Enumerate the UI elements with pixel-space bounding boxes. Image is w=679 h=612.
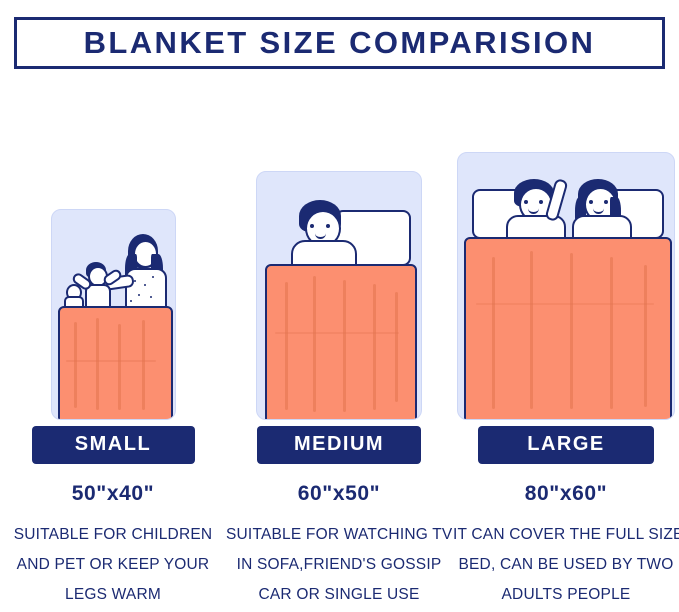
description-small-line-2: AND PET OR KEEP YOUR [0,550,226,580]
column-small: SMALL 50"x40" SUITABLE FOR CHILDREN AND … [0,120,226,610]
label-medium: MEDIUM [257,426,421,464]
description-large: IT CAN COVER THE FULL SIZE BED, CAN BE U… [453,520,679,610]
dimensions-medium: 60"x50" [226,482,452,506]
illustration-small [51,209,176,420]
label-small: SMALL [32,426,195,464]
dimensions-large: 80"x60" [453,482,679,506]
description-medium-line-1: SUITABLE FOR WATCHING TV [226,520,452,550]
comparison-infographic: BLANKET SIZE COMPARISION [0,0,679,612]
illustration-small-wrap [0,120,226,420]
dimensions-small: 50"x40" [0,482,226,506]
label-large: LARGE [478,426,654,464]
blanket-large [464,237,672,420]
eye-right-icon [326,224,330,228]
column-medium: MEDIUM 60"x50" SUITABLE FOR WATCHING TV … [226,120,452,610]
illustration-medium [256,171,422,420]
description-medium-line-3: CAR OR SINGLE USE [226,580,452,610]
description-medium: SUITABLE FOR WATCHING TV IN SOFA,FRIEND'… [226,520,452,610]
description-large-line-1: IT CAN COVER THE FULL SIZE [453,520,679,550]
description-small: SUITABLE FOR CHILDREN AND PET OR KEEP YO… [0,520,226,610]
description-large-line-2: BED, CAN BE USED BY TWO [453,550,679,580]
eye-left-icon [310,224,314,228]
description-small-line-1: SUITABLE FOR CHILDREN [0,520,226,550]
description-small-line-3: LEGS WARM [0,580,226,610]
column-large: LARGE 80"x60" IT CAN COVER THE FULL SIZE… [453,120,679,610]
illustration-large-wrap [453,120,679,420]
page-title: BLANKET SIZE COMPARISION [84,25,596,61]
illustration-medium-wrap [226,120,452,420]
description-large-line-3: ADULTS PEOPLE [453,580,679,610]
page-title-box: BLANKET SIZE COMPARISION [14,17,665,69]
illustration-large [457,152,675,420]
description-medium-line-2: IN SOFA,FRIEND'S GOSSIP [226,550,452,580]
